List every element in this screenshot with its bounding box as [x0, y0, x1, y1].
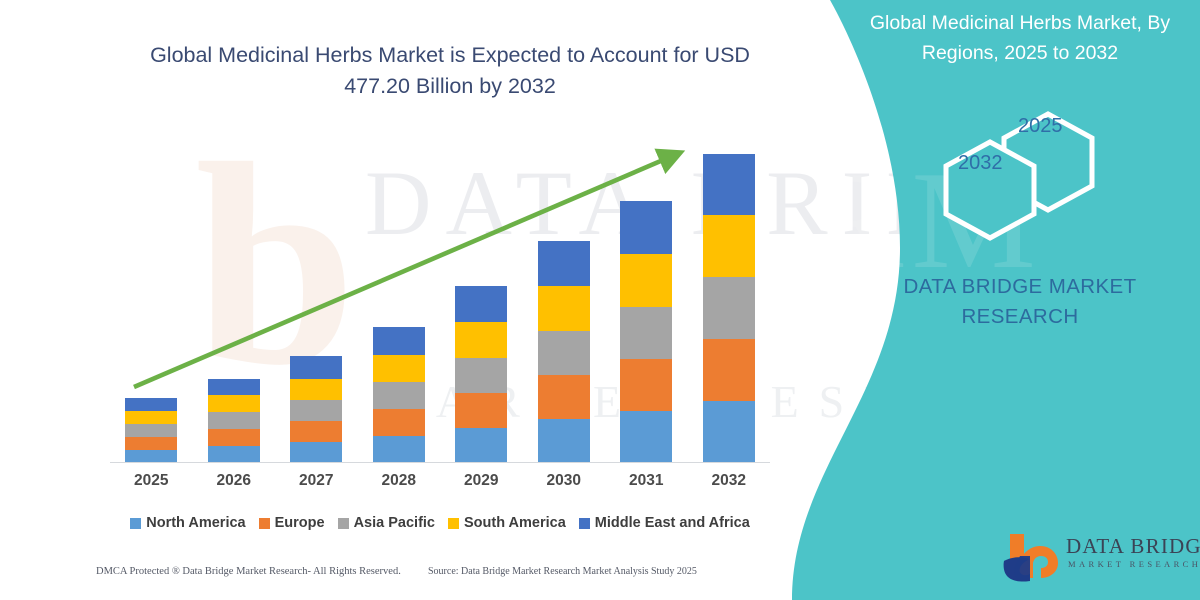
legend-label-middle-east-and-africa: Middle East and Africa — [595, 515, 750, 531]
bar-segment-europe — [538, 375, 590, 419]
bar-segment-asia-pacific — [125, 424, 177, 437]
bar-segment-north-america — [373, 436, 425, 463]
bar-segment-asia-pacific — [620, 307, 672, 359]
bar-segment-south-america — [125, 411, 177, 424]
legend-item-north-america[interactable]: North America — [130, 515, 245, 531]
bar-2027[interactable] — [290, 356, 342, 463]
bar-segment-asia-pacific — [373, 382, 425, 409]
brand-line-2: RESEARCH — [845, 302, 1195, 332]
x-axis-line — [110, 462, 770, 463]
bar-segment-south-america — [703, 215, 755, 277]
legend-label-asia-pacific: Asia Pacific — [354, 515, 435, 531]
legend-item-europe[interactable]: Europe — [259, 515, 325, 531]
x-label-2027: 2027 — [275, 472, 357, 490]
bar-segment-middle-east-and-africa — [373, 327, 425, 355]
bar-2028[interactable] — [373, 327, 425, 463]
hexagon-2032-label: 2032 — [958, 152, 1003, 175]
bar-2026[interactable] — [208, 379, 260, 463]
chart-legend: North AmericaEuropeAsia PacificSouth Ame… — [110, 512, 770, 534]
footer: DMCA Protected ® Data Bridge Market Rese… — [0, 566, 820, 588]
legend-swatch-middle-east-and-africa — [579, 518, 590, 529]
bar-segment-south-america — [620, 254, 672, 307]
brand-line-1: DATA BRIDGE MARKET — [845, 272, 1195, 302]
bar-segment-middle-east-and-africa — [208, 379, 260, 395]
x-label-2028: 2028 — [358, 472, 440, 490]
x-label-2031: 2031 — [605, 472, 687, 490]
brand-wordmark: DATA BRIDGE MARKET RESEARCH — [845, 272, 1195, 332]
x-label-2029: 2029 — [440, 472, 522, 490]
bar-segment-asia-pacific — [538, 331, 590, 375]
bar-segment-europe — [703, 339, 755, 401]
dmca-notice: DMCA Protected ® Data Bridge Market Rese… — [96, 566, 401, 577]
x-label-2025: 2025 — [110, 472, 192, 490]
bar-segment-europe — [208, 429, 260, 446]
bar-segment-south-america — [373, 355, 425, 382]
bar-segment-north-america — [703, 401, 755, 463]
bar-segment-middle-east-and-africa — [703, 154, 755, 215]
bar-segment-middle-east-and-africa — [290, 356, 342, 379]
bar-segment-north-america — [455, 428, 507, 463]
source-note: Source: Data Bridge Market Research Mark… — [428, 566, 697, 577]
legend-item-middle-east-and-africa[interactable]: Middle East and Africa — [579, 515, 750, 531]
bar-2031[interactable] — [620, 201, 672, 463]
bar-segment-middle-east-and-africa — [620, 201, 672, 254]
dbmr-logo-mark-icon — [1000, 528, 1062, 582]
chart-title: Global Medicinal Herbs Market is Expecte… — [120, 40, 780, 102]
bar-2030[interactable] — [538, 241, 590, 463]
panel-title: Global Medicinal Herbs Market, By Region… — [840, 8, 1200, 68]
bar-segment-europe — [290, 421, 342, 442]
legend-label-north-america: North America — [146, 515, 245, 531]
dbmr-logo: DATA BRIDGE MARKET RESEARCH — [1000, 528, 1190, 586]
bar-segment-south-america — [208, 395, 260, 412]
brand-panel-content: RM Global Medicinal Herbs Market, By Reg… — [830, 0, 1200, 600]
bar-segment-north-america — [620, 411, 672, 463]
bar-segment-europe — [373, 409, 425, 436]
bar-2025[interactable] — [125, 398, 177, 463]
bar-segment-europe — [620, 359, 672, 411]
bar-segment-south-america — [538, 286, 590, 331]
x-axis-labels: 20252026202720282029203020312032 — [110, 472, 770, 498]
bar-segment-north-america — [290, 442, 342, 463]
legend-swatch-south-america — [448, 518, 459, 529]
bar-segment-north-america — [208, 446, 260, 463]
bar-segment-middle-east-and-africa — [455, 286, 507, 322]
legend-swatch-asia-pacific — [338, 518, 349, 529]
dbmr-logo-sub: MARKET RESEARCH — [1068, 559, 1200, 569]
legend-item-south-america[interactable]: South America — [448, 515, 566, 531]
bar-segment-north-america — [538, 419, 590, 463]
bar-2029[interactable] — [455, 286, 507, 463]
bar-2032[interactable] — [703, 154, 755, 463]
legend-label-south-america: South America — [464, 515, 566, 531]
plot-area — [110, 140, 770, 463]
hexagon-2025-label: 2025 — [1018, 115, 1063, 138]
bar-segment-middle-east-and-africa — [538, 241, 590, 286]
bar-segment-europe — [125, 437, 177, 450]
bar-segment-europe — [455, 393, 507, 428]
legend-label-europe: Europe — [275, 515, 325, 531]
dbmr-logo-name: DATA BRIDGE — [1066, 534, 1200, 559]
bar-segment-asia-pacific — [290, 400, 342, 421]
x-label-2032: 2032 — [688, 472, 770, 490]
legend-swatch-europe — [259, 518, 270, 529]
x-label-2030: 2030 — [523, 472, 605, 490]
bar-segment-south-america — [455, 322, 507, 358]
bar-segment-south-america — [290, 379, 342, 400]
legend-item-asia-pacific[interactable]: Asia Pacific — [338, 515, 435, 531]
legend-swatch-north-america — [130, 518, 141, 529]
bar-segment-asia-pacific — [703, 277, 755, 339]
bar-segment-middle-east-and-africa — [125, 398, 177, 411]
bar-segment-asia-pacific — [208, 412, 260, 429]
chart-panel: b DATA BRIDGE MARKET RESEARCH Global Med… — [0, 0, 900, 600]
x-label-2026: 2026 — [193, 472, 275, 490]
bar-segment-asia-pacific — [455, 358, 507, 393]
